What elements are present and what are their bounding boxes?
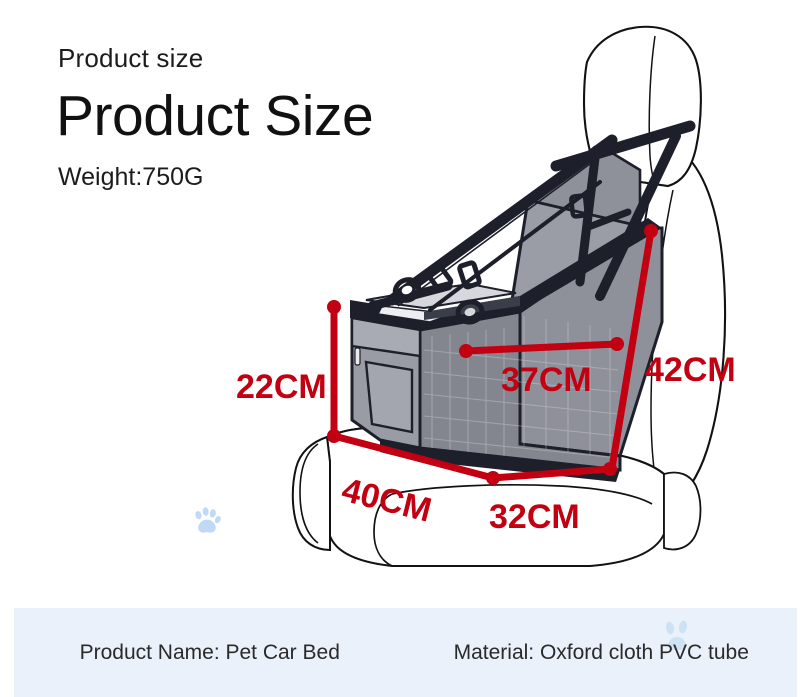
- dimension-label-22cm: 22CM: [236, 368, 327, 406]
- dimension-label-37cm: 37CM: [501, 361, 592, 399]
- bed-inner-opening: [366, 284, 516, 308]
- product-weight-label: Weight:750G: [58, 164, 478, 192]
- footer-product-name: Product Name: Pet Car Bed: [80, 641, 340, 665]
- bed-inner-pad: [378, 306, 452, 322]
- seat-left-bolster: [293, 437, 330, 550]
- endpoint-32cm-right: [603, 462, 617, 476]
- buckle-left-adjuster: [427, 265, 451, 291]
- strap-connector: [586, 212, 628, 228]
- bed-front-right-face: [420, 312, 620, 470]
- dimension-line-32cm: [493, 469, 610, 478]
- bed-base-band: [380, 440, 620, 482]
- clip-center-carabiner: [456, 299, 484, 324]
- seat-cushion-body: [327, 427, 664, 566]
- bed-zipper-pull: [355, 348, 360, 365]
- heading-block: Product size Product Size Weight:750G: [58, 44, 478, 192]
- seat-backrest-front: [596, 160, 660, 476]
- endpoint-37cm-right: [610, 337, 624, 351]
- endpoint-40cm-end: [486, 471, 500, 485]
- page-root: Product size Product Size Weight:750G: [0, 0, 811, 697]
- cushion-front-seam: [392, 485, 652, 504]
- endpoint-37cm-left: [459, 344, 473, 358]
- bed-mesh-texture: [424, 316, 618, 458]
- paw-print-icon: [189, 503, 225, 539]
- endpoint-42cm-top: [644, 224, 658, 238]
- dimension-line-40cm: [334, 436, 493, 478]
- footer-bar: Product Name: Pet Car Bed Material: Oxfo…: [14, 608, 797, 697]
- product-size-kicker: Product size: [58, 44, 478, 73]
- seat-cushion-top: [327, 427, 664, 501]
- bed-rim-lip: [424, 296, 520, 320]
- endpoint-22cm-top: [327, 300, 341, 314]
- page-title: Product Size: [56, 87, 478, 147]
- footer-cell-material: Material: Oxford cloth PVC tube: [406, 641, 798, 665]
- strap-top-cross: [556, 126, 690, 166]
- dimension-label-42cm: 42CM: [645, 351, 736, 389]
- headrest-crease: [649, 36, 655, 183]
- seat-backrest-crease: [651, 190, 673, 508]
- bed-side-pocket: [366, 362, 412, 432]
- dimension-lines: [334, 231, 651, 478]
- bed-near-panel: [352, 318, 420, 448]
- strap-right-brace: [600, 136, 676, 296]
- clip-left-carabiner: [392, 276, 422, 304]
- strap-hardware: [392, 195, 587, 324]
- buckle-post: [571, 195, 587, 216]
- bolster-inner-line: [300, 444, 318, 543]
- dimension-line-42cm: [612, 231, 651, 468]
- bed-top-rim-right: [520, 218, 662, 312]
- bed-back-panel: [512, 200, 640, 312]
- strap-front-left: [372, 286, 448, 306]
- bed-top-rim-left: [350, 296, 520, 330]
- seat-right-bolster: [664, 473, 701, 550]
- endpoint-22cm-bottom: [327, 429, 341, 443]
- footer-material: Material: Oxford cloth PVC tube: [454, 641, 749, 665]
- bed-near-panel-top-band: [352, 318, 420, 356]
- seat-backrest: [613, 148, 725, 510]
- cushion-corner-seam: [374, 494, 392, 566]
- buckle-center-adjuster: [459, 262, 480, 288]
- dimension-line-37cm: [466, 344, 617, 351]
- seat-headrest: [584, 27, 701, 186]
- footer-cell-product-name: Product Name: Pet Car Bed: [14, 641, 406, 665]
- dimension-label-40cm: 40CM: [338, 471, 435, 530]
- dimension-label-32cm: 32CM: [489, 498, 580, 536]
- dimension-endpoints: [327, 224, 658, 485]
- bed-far-panel: [520, 228, 662, 456]
- bed-backrest-support: [528, 148, 640, 226]
- strap-headrest-post: [580, 150, 596, 282]
- strap-left-inner: [430, 182, 600, 310]
- pet-car-bed-illustration: [350, 148, 662, 482]
